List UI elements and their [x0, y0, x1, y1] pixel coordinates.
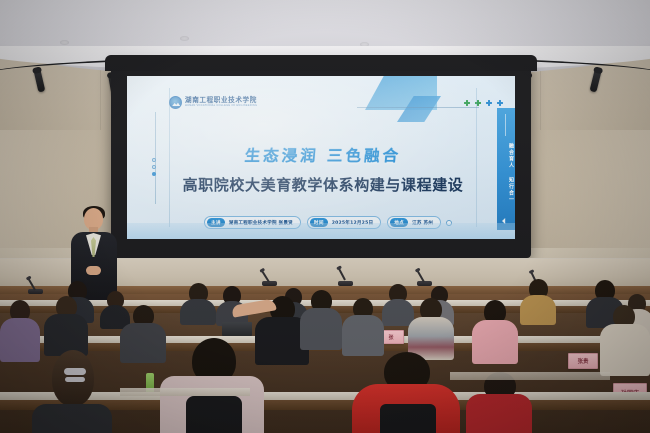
name-placard: 张贵: [568, 353, 598, 369]
presentation-slide: 湖南工程职业技术学院 HUNAN VOCATIONAL COLLEGE OF E…: [127, 76, 515, 239]
microphone-base: [338, 281, 353, 286]
projection-screen-housing: 湖南工程职业技术学院 HUNAN VOCATIONAL COLLEGE OF E…: [111, 61, 531, 258]
rail-dot-icon: [152, 158, 156, 162]
person-body: [342, 315, 384, 356]
person-body: [472, 320, 518, 364]
audience-member-front-red: [352, 352, 460, 433]
plus-icon: [486, 100, 492, 106]
side-panel-text: 融合育人 知行合一: [497, 142, 515, 204]
audience-member: [180, 283, 216, 323]
audience-member-front: [28, 350, 114, 433]
microphone-base: [262, 281, 277, 286]
person-body: [32, 404, 112, 433]
slide-content-area: 生态浸润 三色融合 高职院校大美育教学体系构建与课程建设 主讲 湖南工程职业技术…: [169, 88, 477, 227]
person-body: [466, 394, 532, 433]
audience-member-hand-raised: [232, 302, 276, 324]
audience-member-front: [466, 372, 532, 433]
audience-member: [44, 296, 88, 354]
laptop: [222, 322, 252, 336]
person-body: [520, 295, 556, 325]
audience-member: [520, 279, 556, 323]
chair-back: [186, 396, 242, 433]
microphone-base: [28, 289, 43, 294]
desk-surface: [450, 372, 610, 380]
presenter-hands: [86, 266, 101, 275]
person-body: [600, 324, 650, 376]
raised-arm: [231, 298, 276, 317]
rail-dot-icon: [152, 165, 156, 169]
audience-member: [342, 298, 384, 354]
decor-rail-dots: [152, 158, 156, 176]
audience-member: [300, 290, 342, 348]
lecture-hall-scene: 湖南工程职业技术学院 HUNAN VOCATIONAL COLLEGE OF E…: [0, 0, 650, 433]
side-panel-line: [505, 114, 506, 136]
person-body: [300, 308, 342, 350]
audience-member: [408, 298, 454, 358]
desk-surface: [120, 388, 250, 396]
slide-side-panel: 融合育人 知行合一: [497, 108, 515, 230]
rail-dot-icon: [152, 172, 156, 176]
person-body: [180, 299, 216, 325]
audience-member: [472, 300, 518, 362]
slide-bottom-band: [127, 223, 515, 239]
audience-member: [600, 305, 650, 375]
person-head: [52, 350, 94, 406]
slide-title-sub: 高职院校大美育教学体系构建与课程建设: [170, 174, 476, 195]
audience-member-front: [160, 338, 264, 433]
chair-back: [380, 404, 436, 433]
plus-icon: [497, 100, 503, 106]
person-hair-clip: [64, 368, 86, 375]
slide-title-main: 生态浸润 三色融合: [169, 144, 477, 166]
